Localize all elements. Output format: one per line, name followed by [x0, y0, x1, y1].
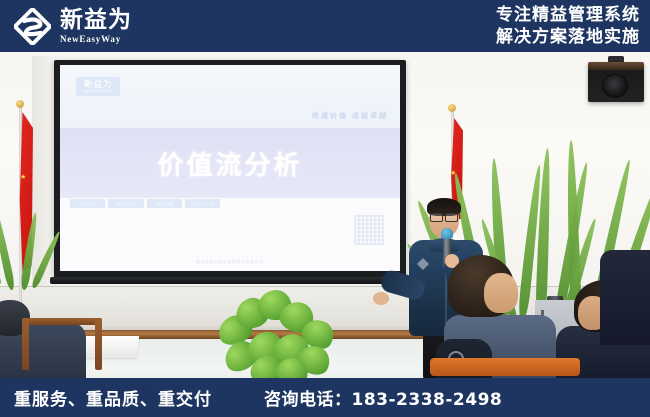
presenter-left-hand — [373, 292, 389, 305]
glasses-icon — [430, 213, 458, 220]
indoor-plant-left — [0, 200, 40, 310]
slide-tab: 价值流未来图 — [147, 199, 182, 208]
chair-back — [430, 358, 580, 376]
slide-tab: 价值流概念 — [70, 199, 105, 208]
flag-finial-left — [16, 100, 24, 108]
slogan-line-1: 专注精益管理系统 — [496, 5, 640, 26]
wooden-chair-post — [95, 318, 102, 370]
brand-name-en: NewEasyWay — [60, 35, 132, 44]
bottom-banner: 重服务、重品质、重交付 咨询电话：183-2338-2498 — [0, 378, 650, 417]
footer-phone[interactable]: 咨询电话：183-2338-2498 — [264, 385, 502, 410]
slide-logo-en: 精益管理咨询专家 — [84, 90, 113, 93]
wall-speaker — [588, 62, 644, 102]
projection-slide: 新益为 精益管理咨询专家 传递价值 成就卓越 价值流分析 价值流概念 价值流现状… — [60, 65, 400, 271]
brand-logo[interactable]: 新益为 NewEasyWay — [14, 8, 132, 45]
slide-tab: 价值流改善计划 — [185, 199, 220, 208]
header-slogan: 专注精益管理系统 解决方案落地实施 — [496, 5, 642, 47]
slide-header-area: 新益为 精益管理咨询专家 传递价值 成就卓越 — [60, 65, 400, 128]
brand-name-cn: 新益为 — [60, 9, 132, 32]
flag-finial-right — [448, 104, 456, 112]
slogan-line-2: 解决方案落地实施 — [496, 27, 640, 48]
microphone-head-icon — [441, 228, 453, 239]
slide-tagline: 传递价值 成就卓越 — [312, 111, 388, 121]
slide-logo: 新益为 精益管理咨询专家 — [76, 77, 120, 96]
projection-screen: 新益为 精益管理咨询专家 传递价值 成就卓越 价值流分析 价值流概念 价值流现状… — [54, 60, 406, 278]
slide-logo-cn: 新益为 — [84, 80, 113, 89]
attendee-left — [0, 300, 85, 380]
meeting-room-photo: 新益为 精益管理咨询专家 传递价值 成就卓越 价值流分析 价值流概念 价值流现状… — [0, 0, 650, 417]
top-banner: 新益为 NewEasyWay 专注精益管理系统 解决方案落地实施 — [0, 0, 650, 52]
slide-title: 价值流分析 — [157, 145, 302, 182]
table-plant — [210, 288, 360, 383]
diamond-e-logo-icon — [14, 8, 51, 45]
slide-footer-note: 重庆新益为企业管理顾问有限公司 — [60, 260, 400, 265]
wooden-chair-top-rail — [22, 318, 102, 325]
qr-code-icon — [354, 215, 384, 245]
wooden-chair-post — [22, 318, 29, 370]
brand-text: 新益为 NewEasyWay — [60, 9, 132, 44]
attendee-far-right — [600, 250, 650, 345]
slide-title-band: 价值流分析 — [60, 128, 400, 198]
footer-service-slogan: 重服务、重品质、重交付 — [14, 385, 212, 410]
speaker-cone-icon — [602, 74, 628, 98]
slide-tab: 价值流现状图 — [108, 199, 143, 208]
flag-star-icon: ★ — [20, 174, 26, 181]
slide-tab-strip: 价值流概念 价值流现状图 价值流未来图 价值流改善计划 — [70, 199, 220, 208]
screenshot-stage: 新益为 精益管理咨询专家 传递价值 成就卓越 价值流分析 价值流概念 价值流现状… — [0, 0, 650, 417]
